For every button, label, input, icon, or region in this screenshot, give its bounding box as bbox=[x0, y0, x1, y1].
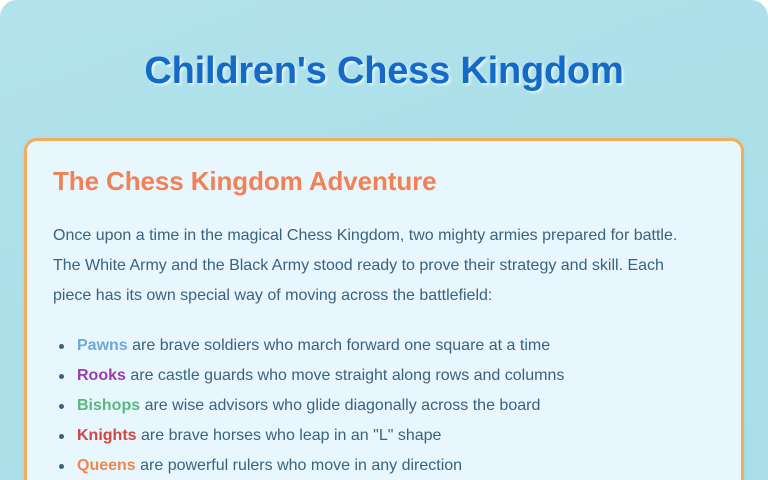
bullet-icon bbox=[59, 434, 64, 439]
list-item: Rooks are castle guards who move straigh… bbox=[53, 361, 715, 391]
bullet-icon bbox=[59, 464, 64, 469]
piece-name-knights: Knights bbox=[77, 427, 137, 444]
card-heading: The Chess Kingdom Adventure bbox=[53, 165, 715, 197]
piece-name-queens: Queens bbox=[77, 457, 136, 474]
list-item: Knights are brave horses who leap in an … bbox=[53, 421, 715, 451]
page-title: Children's Chess Kingdom bbox=[0, 47, 768, 95]
list-item: Queens are powerful rulers who move in a… bbox=[53, 451, 715, 480]
piece-name-pawns: Pawns bbox=[77, 337, 128, 354]
bullet-icon bbox=[59, 374, 64, 379]
piece-description-bishops: are wise advisors who glide diagonally a… bbox=[140, 397, 540, 414]
list-item: Pawns are brave soldiers who march forwa… bbox=[53, 331, 715, 361]
bullet-icon bbox=[59, 344, 64, 349]
list-item: Bishops are wise advisors who glide diag… bbox=[53, 391, 715, 421]
bullet-icon bbox=[59, 404, 64, 409]
piece-name-bishops: Bishops bbox=[77, 397, 140, 414]
piece-name-rooks: Rooks bbox=[77, 367, 126, 384]
page-container: Children's Chess Kingdom The Chess Kingd… bbox=[0, 0, 768, 480]
piece-description-knights: are brave horses who leap in an "L" shap… bbox=[137, 427, 442, 444]
piece-description-rooks: are castle guards who move straight alon… bbox=[126, 367, 564, 384]
browser-viewport: Children's Chess Kingdom The Chess Kingd… bbox=[0, 0, 768, 480]
piece-description-pawns: are brave soldiers who march forward one… bbox=[128, 337, 550, 354]
story-paragraph: Once upon a time in the magical Chess Ki… bbox=[53, 221, 698, 311]
chess-pieces-list: Pawns are brave soldiers who march forwa… bbox=[53, 331, 715, 480]
story-card: The Chess Kingdom Adventure Once upon a … bbox=[24, 138, 744, 480]
piece-description-queens: are powerful rulers who move in any dire… bbox=[136, 457, 462, 474]
